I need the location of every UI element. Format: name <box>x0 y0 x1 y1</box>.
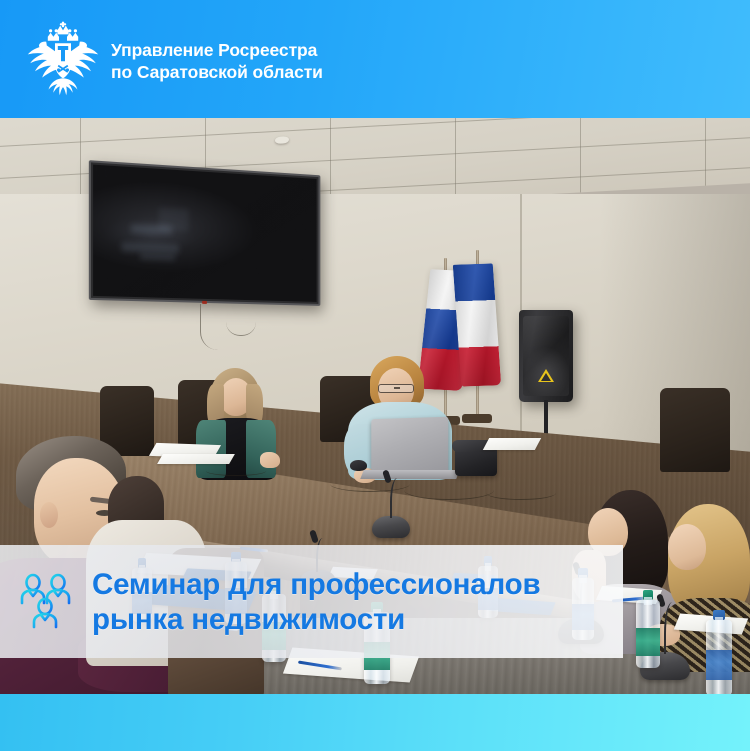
cable <box>486 486 556 500</box>
cable <box>206 466 266 476</box>
loudspeaker <box>519 310 573 402</box>
glasses-bridge <box>394 387 400 389</box>
wall-mounted-display <box>89 160 321 306</box>
organization-title: Управление Росреестра по Саратовской обл… <box>111 40 323 83</box>
paper-document <box>157 454 235 464</box>
footer-bar <box>0 694 750 751</box>
water-bottle <box>636 590 660 668</box>
header-bar: Управление Росреестра по Саратовской обл… <box>0 0 750 118</box>
head <box>668 524 706 570</box>
display-cable <box>226 308 256 336</box>
cable <box>404 480 494 500</box>
ear <box>40 502 58 528</box>
water-bottle <box>706 610 732 694</box>
caption-bar: Семинар для профессионалов рынка недвижи… <box>0 545 623 658</box>
seminar-title: Семинар для профессионалов рынка недвижи… <box>92 567 612 637</box>
hand <box>260 452 280 468</box>
rosreestr-eagle-emblem-icon <box>23 19 103 101</box>
poster-card: Управление Росреестра по Саратовской обл… <box>0 0 750 751</box>
paper-document <box>483 438 541 450</box>
chair <box>660 388 730 472</box>
computer-mouse <box>350 460 367 471</box>
group-of-people-icon <box>18 569 84 635</box>
smoke-detector-icon <box>275 136 289 144</box>
laptop <box>371 417 448 474</box>
